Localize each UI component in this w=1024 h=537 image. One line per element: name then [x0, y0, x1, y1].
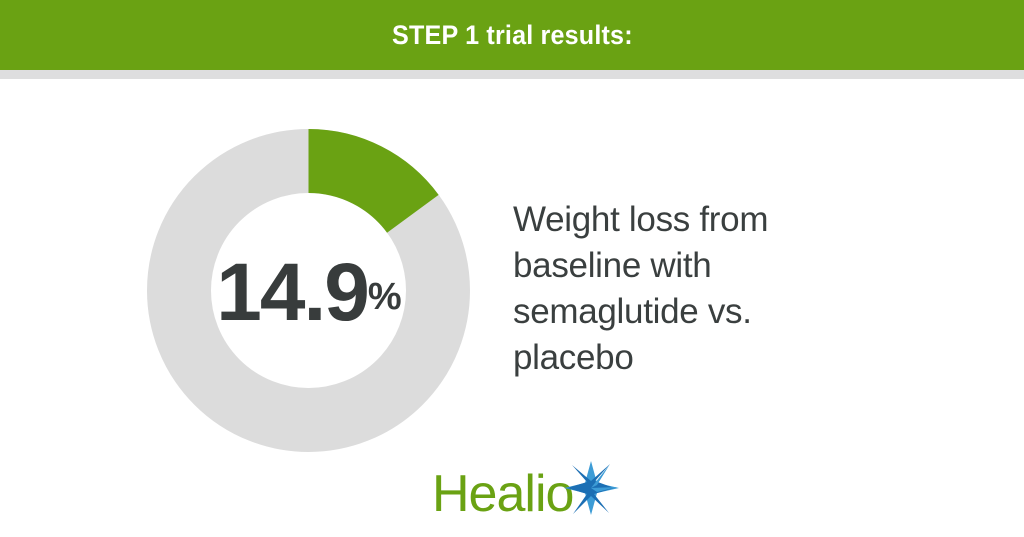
caption-text: Weight loss from baseline with semagluti… [513, 197, 863, 380]
header-bar: STEP 1 trial results: [0, 0, 1024, 70]
donut-chart: 14.9% [147, 129, 470, 452]
caption-line-2: baseline with [513, 243, 863, 289]
infographic-canvas: STEP 1 trial results: 14.9% Weight loss … [0, 0, 1024, 537]
content-area: 14.9% Weight loss from baseline with sem… [0, 79, 1024, 537]
healio-logo-svg: Healio [432, 459, 622, 525]
caption-line-4: placebo [513, 335, 863, 381]
page-title: STEP 1 trial results: [392, 22, 633, 49]
donut-chart-svg [147, 129, 470, 452]
healio-logo: Healio [432, 459, 622, 525]
caption-line-1: Weight loss from [513, 197, 863, 243]
header-divider [0, 70, 1024, 79]
healio-wordmark: Healio [432, 465, 573, 523]
caption-line-3: semaglutide vs. [513, 289, 863, 335]
